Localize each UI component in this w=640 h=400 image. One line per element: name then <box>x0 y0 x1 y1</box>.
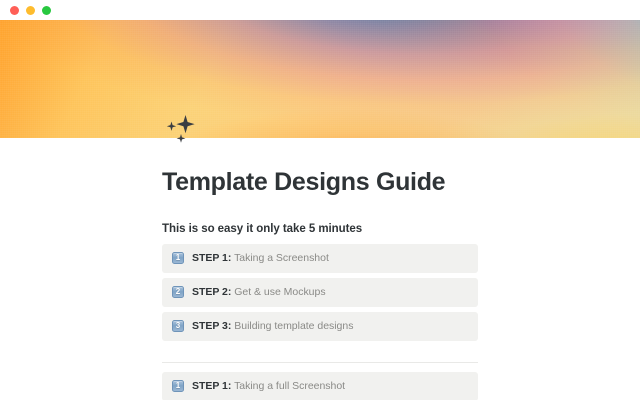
callout-step-1-desc: Taking a Screenshot <box>234 252 329 264</box>
section-divider <box>162 362 478 363</box>
keycap-section-1-icon: 1 <box>172 380 184 392</box>
subheading[interactable]: This is so easy it only take 5 minutes <box>162 223 478 235</box>
keycap-2-digit: 2 <box>176 288 180 296</box>
callout-step-3-desc: Building template designs <box>234 320 353 332</box>
callout-step-3-text: STEP 3: Building template designs <box>192 320 353 333</box>
keycap-section-1-digit: 1 <box>176 382 180 390</box>
callout-section-step-1-desc: Taking a full Screenshot <box>234 380 345 392</box>
callout-section-step-1[interactable]: 1 STEP 1: Taking a full Screenshot <box>162 372 478 400</box>
callout-step-2-label: STEP 2: <box>192 286 231 298</box>
window-titlebar <box>0 0 640 20</box>
callout-step-1-label: STEP 1: <box>192 252 231 264</box>
keycap-2-icon: 2 <box>172 286 184 298</box>
cover-grain-overlay <box>0 20 640 138</box>
app-window: Template Designs Guide This is so easy i… <box>0 0 640 400</box>
callout-step-2-desc: Get & use Mockups <box>234 286 325 298</box>
callout-step-3[interactable]: 3 STEP 3: Building template designs <box>162 312 478 341</box>
traffic-lights <box>10 6 51 15</box>
callout-step-1[interactable]: 1 STEP 1: Taking a Screenshot <box>162 244 478 273</box>
cover-image[interactable] <box>0 20 640 138</box>
callout-section-step-1-text: STEP 1: Taking a full Screenshot <box>192 380 345 393</box>
keycap-3-digit: 3 <box>176 322 180 330</box>
maximize-button[interactable] <box>42 6 51 15</box>
keycap-3-icon: 3 <box>172 320 184 332</box>
callout-step-2[interactable]: 2 STEP 2: Get & use Mockups <box>162 278 478 307</box>
callout-section-step-1-label: STEP 1: <box>192 380 231 392</box>
minimize-button[interactable] <box>26 6 35 15</box>
callout-step-1-text: STEP 1: Taking a Screenshot <box>192 252 329 265</box>
keycap-1-icon: 1 <box>172 252 184 264</box>
page-title[interactable]: Template Designs Guide <box>162 168 478 197</box>
keycap-1-digit: 1 <box>176 254 180 262</box>
sparkles-icon[interactable] <box>162 113 200 147</box>
document-page: Template Designs Guide This is so easy i… <box>0 138 640 400</box>
close-button[interactable] <box>10 6 19 15</box>
callout-step-3-label: STEP 3: <box>192 320 231 332</box>
callout-step-2-text: STEP 2: Get & use Mockups <box>192 286 326 299</box>
document-content: Template Designs Guide This is so easy i… <box>0 168 640 400</box>
